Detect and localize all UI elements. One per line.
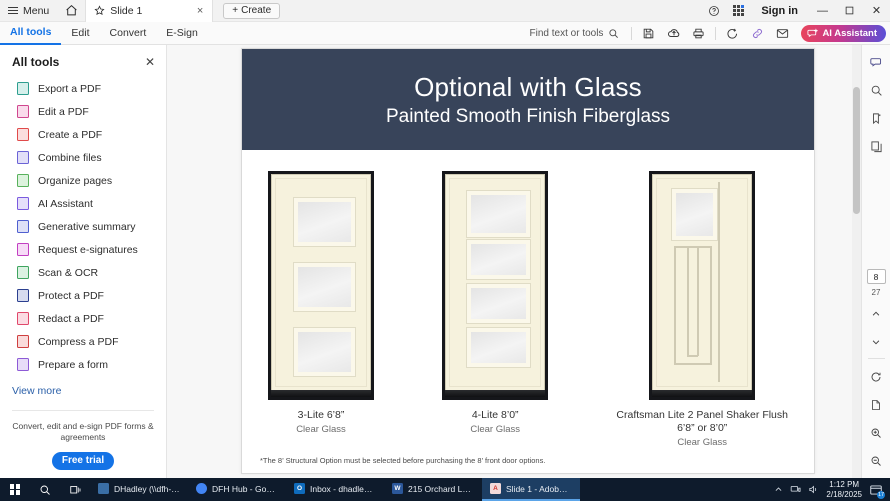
door-glass-type: Clear Glass — [616, 437, 788, 448]
tool-scan-and-ocr[interactable]: Scan & OCR — [0, 261, 166, 284]
door-size: 6’8” or 8’0” — [616, 422, 788, 435]
tool-generative-summary[interactable]: Generative summary — [0, 215, 166, 238]
door-name: 3-Lite 6’8” — [296, 409, 346, 422]
shaker-stile — [718, 182, 720, 382]
shaker-panel-rail — [687, 246, 689, 356]
star-icon[interactable] — [94, 5, 105, 16]
shaker-panel-rail — [710, 246, 712, 364]
divider — [868, 358, 885, 359]
taskbar-item-label: 215 Orchard Laurel … — [408, 484, 474, 494]
taskbar-clock[interactable]: 1:12 PM 2/18/2025 — [826, 480, 862, 500]
tool-prepare-a-form[interactable]: Prepare a form — [0, 353, 166, 376]
tool-label: Redact a PDF — [38, 313, 104, 325]
shaker-panel-rail — [674, 363, 712, 365]
redact-pdf-icon — [17, 312, 29, 325]
request-esign-icon — [17, 243, 29, 256]
help-icon[interactable] — [702, 0, 726, 22]
tool-label: Combine files — [38, 152, 102, 164]
add-comment-icon[interactable] — [720, 22, 745, 45]
door-item: Craftsman Lite 2 Panel Shaker Flush 6’8”… — [616, 171, 788, 448]
door-sill — [271, 390, 371, 397]
tool-compress-a-pdf[interactable]: Compress a PDF — [0, 330, 166, 353]
shaker-panel-rail — [697, 246, 699, 356]
door-name: Craftsman Lite 2 Panel Shaker Flush — [616, 409, 788, 422]
door-item: 3-Lite 6’8” Clear Glass — [268, 171, 374, 448]
door-gallery: 3-Lite 6’8” Clear Glass 4- — [242, 150, 814, 448]
combine-files-icon — [17, 151, 29, 164]
glass-lite — [471, 332, 526, 363]
menu-bar: All tools Edit Convert E-Sign Find text … — [0, 22, 890, 45]
network-icon[interactable] — [790, 484, 801, 495]
task-view-icon[interactable] — [60, 478, 90, 501]
tab-esign[interactable]: E-Sign — [156, 22, 208, 45]
slide-header: Optional with Glass Painted Smooth Finis… — [242, 49, 814, 150]
acrobat-icon: A — [490, 483, 501, 494]
word-icon: W — [392, 483, 403, 494]
search-input-label: Find text or tools — [530, 28, 604, 39]
glass-lite — [676, 193, 713, 236]
tool-list: Export a PDF Edit a PDF Create a PDF Com… — [0, 77, 166, 376]
tool-edit-a-pdf[interactable]: Edit a PDF — [0, 100, 166, 123]
taskbar-item-label: DHadley (\\dfh-fs0… — [114, 484, 180, 494]
close-button[interactable]: ✕ — [863, 0, 890, 22]
prepare-form-icon — [17, 358, 29, 371]
door-image-craftsman — [649, 171, 755, 400]
view-more-link[interactable]: View more — [0, 376, 166, 397]
shaker-panel-rail — [687, 355, 698, 357]
chrome-icon — [196, 483, 207, 494]
grid-glyph — [733, 5, 744, 16]
tool-label: Export a PDF — [38, 83, 101, 95]
tab-edit[interactable]: Edit — [61, 22, 99, 45]
previous-page-button[interactable] — [865, 303, 887, 325]
volume-icon[interactable] — [808, 484, 819, 495]
door-name: 4-Lite 8’0” — [470, 409, 520, 422]
slide-subtitle: Painted Smooth Finish Fiberglass — [386, 106, 670, 128]
page-number-input[interactable]: 8 — [867, 269, 886, 284]
tab-convert[interactable]: Convert — [100, 22, 157, 45]
page-total-label: 27 — [872, 288, 881, 297]
outlook-icon: O — [294, 483, 305, 494]
ai-assistant-label: AI Assistant — [822, 28, 877, 39]
door-sill — [445, 390, 545, 397]
menu-button-label: Menu — [23, 5, 49, 17]
door-sill — [652, 390, 752, 397]
zoom-in-icon[interactable] — [865, 422, 887, 444]
slide-title: Optional with Glass — [414, 72, 642, 103]
menubar-right-group: Find text or tools — [522, 22, 890, 45]
promo-text: Convert, edit and e-sign PDF forms & agr… — [0, 411, 166, 443]
divider — [715, 27, 716, 40]
ai-assistant-icon[interactable] — [865, 51, 887, 73]
tool-label: Compress a PDF — [38, 336, 119, 348]
tool-label: Request e-signatures — [38, 244, 138, 256]
next-page-button[interactable] — [865, 331, 887, 353]
save-icon[interactable] — [636, 22, 661, 45]
pdf-page: Optional with Glass Painted Smooth Finis… — [241, 48, 815, 474]
tool-ai-assistant[interactable]: AI Assistant — [0, 192, 166, 215]
glass-lite — [298, 202, 351, 242]
home-button[interactable] — [58, 0, 85, 22]
minimize-button[interactable]: — — [809, 0, 836, 22]
tool-label: Protect a PDF — [38, 290, 104, 302]
tool-protect-a-pdf[interactable]: Protect a PDF — [0, 284, 166, 307]
windows-taskbar: DHadley (\\dfh-fs0… DFH Hub - Google … O… — [0, 478, 890, 501]
tool-label: Generative summary — [38, 221, 135, 233]
document-viewer[interactable]: Optional with Glass Painted Smooth Finis… — [167, 45, 861, 478]
titlebar-right-group: Sign in — ✕ — [702, 0, 890, 22]
sign-in-button[interactable]: Sign in — [750, 0, 809, 22]
door-caption: 4-Lite 8’0” Clear Glass — [470, 409, 520, 435]
notifications-icon[interactable]: 17 — [869, 483, 883, 497]
home-icon — [65, 4, 78, 17]
upload-cloud-icon[interactable] — [661, 22, 686, 45]
acrobat-window: Menu Slide 1 × + Create — [0, 0, 890, 501]
tool-label: Prepare a form — [38, 359, 108, 371]
taskbar-item-label: Inbox - dhadley@c… — [310, 484, 376, 494]
glass-lite — [298, 267, 351, 307]
door-glass-type: Clear Glass — [470, 424, 520, 435]
door-glass-type: Clear Glass — [296, 424, 346, 435]
windows-start-icon[interactable] — [0, 478, 30, 501]
menu-button[interactable]: Menu — [0, 0, 58, 22]
taskbar-item-label: Slide 1 - Adobe Acr… — [506, 484, 572, 494]
tool-redact-a-pdf[interactable]: Redact a PDF — [0, 307, 166, 330]
glass-lite — [298, 332, 351, 372]
glass-lite — [471, 195, 526, 233]
windows-logo-glyph — [10, 484, 20, 494]
slide-footnote: *The 8’ Structural Option must be select… — [260, 456, 545, 465]
ai-sparkle-icon — [807, 28, 818, 39]
taskbar-item-word[interactable]: W 215 Orchard Laurel … — [384, 478, 482, 501]
title-bar: Menu Slide 1 × + Create — [0, 0, 890, 22]
organize-pages-icon — [17, 174, 29, 187]
pages-thumbnail-icon[interactable] — [865, 135, 887, 157]
glass-lite — [471, 288, 526, 319]
door-image-4-lite — [442, 171, 548, 400]
tab-close-icon[interactable]: × — [194, 5, 206, 17]
viewer-scrollbar[interactable] — [852, 45, 861, 478]
taskbar-item-chrome[interactable]: DFH Hub - Google … — [188, 478, 286, 501]
ai-assistant-icon — [17, 197, 29, 210]
plus-icon: + — [232, 5, 238, 16]
create-button[interactable]: + Create — [223, 3, 280, 19]
tool-organize-pages[interactable]: Organize pages — [0, 169, 166, 192]
system-tray: 1:12 PM 2/18/2025 17 — [774, 480, 890, 500]
zoom-out-icon[interactable] — [865, 450, 887, 472]
all-tools-header: All tools ✕ — [0, 45, 166, 77]
all-tools-panel: All tools ✕ Export a PDF Edit a PDF Crea… — [0, 45, 167, 478]
tool-label: Create a PDF — [38, 129, 102, 141]
document-tab-label: Slide 1 — [110, 5, 189, 17]
free-trial-button[interactable]: Free trial — [52, 452, 114, 470]
door-image-3-lite — [268, 171, 374, 400]
panel-title: All tools — [12, 55, 59, 69]
taskbar-item-acrobat[interactable]: A Slide 1 - Adobe Acr… — [482, 478, 580, 501]
link-icon[interactable] — [745, 22, 770, 45]
apps-grid-icon[interactable] — [726, 0, 750, 22]
generative-summary-icon — [17, 220, 29, 233]
rotate-icon[interactable] — [865, 366, 887, 388]
protect-pdf-icon — [17, 289, 29, 302]
taskbar-search-icon[interactable] — [30, 478, 60, 501]
clock-date: 2/18/2025 — [826, 490, 862, 500]
shaker-panel-rail — [674, 246, 676, 364]
search-icon — [608, 28, 619, 39]
tool-label: AI Assistant — [38, 198, 93, 210]
taskbar-item-file-explorer[interactable]: DHadley (\\dfh-fs0… — [90, 478, 188, 501]
divider — [631, 27, 632, 40]
create-button-label: Create — [241, 5, 271, 16]
tab-all-tools[interactable]: All tools — [0, 22, 61, 45]
search-input[interactable]: Find text or tools — [522, 28, 628, 39]
door-caption: 3-Lite 6’8” Clear Glass — [296, 409, 346, 435]
compress-pdf-icon — [17, 335, 29, 348]
shaker-panel-rail — [674, 246, 712, 248]
scan-ocr-icon — [17, 266, 29, 279]
tool-label: Scan & OCR — [38, 267, 98, 279]
document-tab[interactable]: Slide 1 × — [85, 0, 213, 22]
tool-create-a-pdf[interactable]: Create a PDF — [0, 123, 166, 146]
network-drive-icon — [98, 483, 109, 494]
tool-label: Organize pages — [38, 175, 112, 187]
edit-pdf-icon — [17, 105, 29, 118]
tool-label: Edit a PDF — [38, 106, 89, 118]
clock-time: 1:12 PM — [826, 480, 862, 490]
print-icon[interactable] — [686, 22, 711, 45]
tray-expand-icon[interactable] — [774, 485, 783, 494]
taskbar-item-outlook[interactable]: O Inbox - dhadley@c… — [286, 478, 384, 501]
hamburger-icon — [8, 7, 18, 15]
door-item: 4-Lite 8’0” Clear Glass — [442, 171, 548, 448]
create-pdf-icon — [17, 128, 29, 141]
tool-request-e-signatures[interactable]: Request e-signatures — [0, 238, 166, 261]
close-panel-icon[interactable]: ✕ — [145, 55, 155, 69]
email-icon[interactable] — [770, 22, 795, 45]
glass-lite — [471, 244, 526, 275]
door-caption: Craftsman Lite 2 Panel Shaker Flush 6’8”… — [616, 409, 788, 448]
export-pdf-icon — [17, 82, 29, 95]
tool-combine-files[interactable]: Combine files — [0, 146, 166, 169]
fit-page-icon[interactable] — [865, 394, 887, 416]
search-icon[interactable] — [865, 79, 887, 101]
taskbar-item-label: DFH Hub - Google … — [212, 484, 278, 494]
notification-count: 17 — [877, 491, 885, 499]
tool-export-a-pdf[interactable]: Export a PDF — [0, 77, 166, 100]
bookmark-icon[interactable] — [865, 107, 887, 129]
right-toolbar: 8 27 — [861, 45, 890, 478]
ai-assistant-button[interactable]: AI Assistant — [801, 25, 886, 42]
scrollbar-thumb[interactable] — [853, 87, 860, 214]
maximize-button[interactable] — [836, 0, 863, 22]
